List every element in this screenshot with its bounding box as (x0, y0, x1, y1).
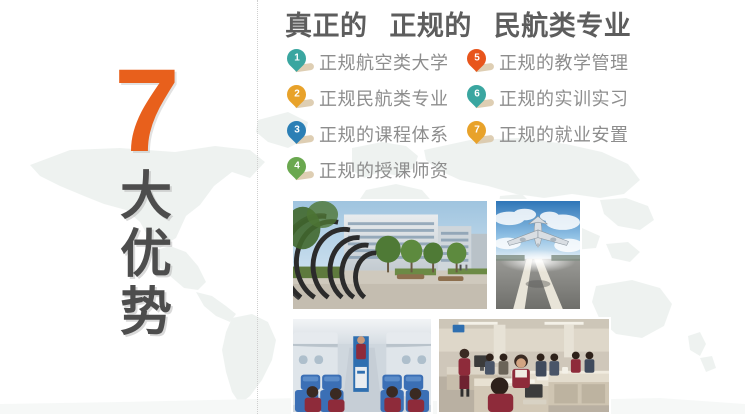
feature-list-left: 1 正规航空类大学 2 正规民航类专业 3 正规的课程体系 (286, 44, 449, 188)
list-item[interactable]: 5 正规的教学管理 (466, 44, 629, 80)
list-item-label: 正规的就业安置 (496, 121, 629, 147)
counter-photo-art (439, 319, 609, 412)
pin-number: 6 (474, 90, 480, 100)
title-segment-2: 正规的 (389, 11, 472, 42)
list-item[interactable]: 4 正规的授课师资 (286, 152, 449, 188)
list-item-label: 正规航空类大学 (316, 49, 449, 75)
title-segment-3: 民航类专业 (494, 11, 632, 42)
map-pin-icon: 7 (466, 120, 496, 148)
vertical-char-1: 大 (98, 168, 194, 226)
map-pin-icon: 5 (466, 48, 496, 76)
list-item-label: 正规民航类专业 (316, 85, 449, 111)
left-panel: 7 大 优 势 (0, 0, 257, 414)
feature-list-right: 5 正规的教学管理 6 正规的实训实习 7 正规的就业安置 (466, 44, 629, 152)
vertical-phrase: 大 优 势 (98, 168, 194, 342)
list-item-label: 正规的授课师资 (316, 157, 449, 183)
list-item[interactable]: 2 正规民航类专业 (286, 80, 449, 116)
pin-number: 3 (294, 126, 300, 136)
map-pin-icon: 3 (286, 120, 316, 148)
map-pin-icon: 6 (466, 84, 496, 112)
cabin-photo-art (293, 319, 431, 412)
vertical-char-3: 势 (98, 284, 194, 342)
airplane-photo-art (496, 201, 580, 309)
photo-counter-training (437, 317, 611, 414)
title-segment-1: 真正的 (285, 11, 368, 42)
map-pin-icon: 4 (286, 156, 316, 184)
list-item[interactable]: 3 正规的课程体系 (286, 116, 449, 152)
page-title: 真正的 正规的 民航类专业 (285, 4, 631, 43)
list-item[interactable]: 1 正规航空类大学 (286, 44, 449, 80)
pin-number: 1 (294, 54, 300, 64)
list-item-label: 正规的实训实习 (496, 85, 629, 111)
list-item-label: 正规的教学管理 (496, 49, 629, 75)
pin-number: 7 (474, 126, 480, 136)
big-number-seven: 7 (96, 52, 196, 170)
pin-number: 5 (474, 54, 480, 64)
map-pin-icon: 1 (286, 48, 316, 76)
photo-campus-buildings (291, 199, 489, 311)
vertical-dotted-divider (257, 0, 258, 414)
slide-canvas: 7 大 优 势 真正的 正规的 民航类专业 1 正规航空类大学 (0, 0, 745, 414)
list-item-label: 正规的课程体系 (316, 121, 449, 147)
campus-photo-art (293, 201, 487, 309)
pin-number: 2 (294, 90, 300, 100)
pin-number: 4 (294, 162, 300, 172)
list-item[interactable]: 7 正规的就业安置 (466, 116, 629, 152)
photo-airplane-runway (494, 199, 582, 311)
photo-cabin-training (291, 317, 433, 414)
list-item[interactable]: 6 正规的实训实习 (466, 80, 629, 116)
map-pin-icon: 2 (286, 84, 316, 112)
vertical-char-2: 优 (98, 226, 194, 284)
